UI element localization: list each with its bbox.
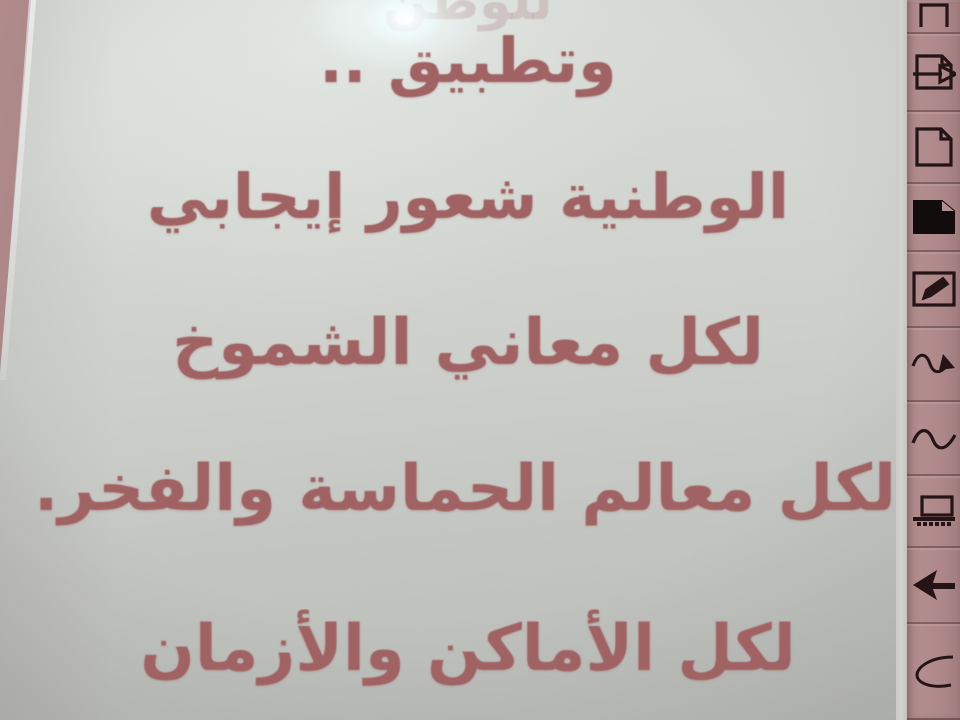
slide-line-5: لكل الأماكن والأزمان: [20, 612, 896, 686]
toolbar-button-squiggle[interactable]: [907, 402, 960, 476]
blank-page-icon: [913, 125, 955, 169]
squiggle-arrow-icon: [911, 346, 957, 382]
page-export-arrow-icon: [912, 50, 956, 94]
toolbar-button-pencil-box[interactable]: [907, 252, 960, 328]
toolbar-button-undo-curve[interactable]: [907, 624, 960, 720]
toolbar-button-filled-page[interactable]: [907, 184, 960, 252]
toolbar-button-page-export-arrow[interactable]: [907, 34, 960, 112]
laptop-keyboard-icon: [911, 493, 957, 529]
toolbar-button-cursor-arrow[interactable]: [907, 548, 960, 624]
cursor-arrow-icon: [911, 566, 957, 604]
toolbar-button-laptop-keyboard[interactable]: [907, 476, 960, 548]
toolbar-button-blank-page[interactable]: [907, 112, 960, 184]
toolbar-button-page-partial[interactable]: [907, 0, 960, 34]
squiggle-icon: [911, 423, 957, 453]
slide-text-block: للوطن وتطبيق .. الوطنية شعور إيجابي لكل …: [40, 0, 896, 720]
slide-line-1: وتطبيق ..: [0, 24, 896, 97]
undo-curve-icon: [911, 651, 957, 691]
slide-line-3: لكل معاني الشموخ: [20, 306, 896, 380]
whiteboard-toolbar: [907, 0, 960, 720]
screenshot-canvas: للوطن وتطبيق .. الوطنية شعور إيجابي لكل …: [0, 0, 960, 720]
slide-line-4: لكل معالم الحماسة والفخر.: [40, 452, 896, 526]
toolbar-button-squiggle-arrow[interactable]: [907, 328, 960, 402]
pencil-box-icon: [911, 269, 957, 309]
filled-page-icon: [912, 197, 956, 237]
page-partial-icon: [917, 3, 951, 29]
slide-line-2: الوطنية شعور إيجابي: [30, 160, 896, 233]
